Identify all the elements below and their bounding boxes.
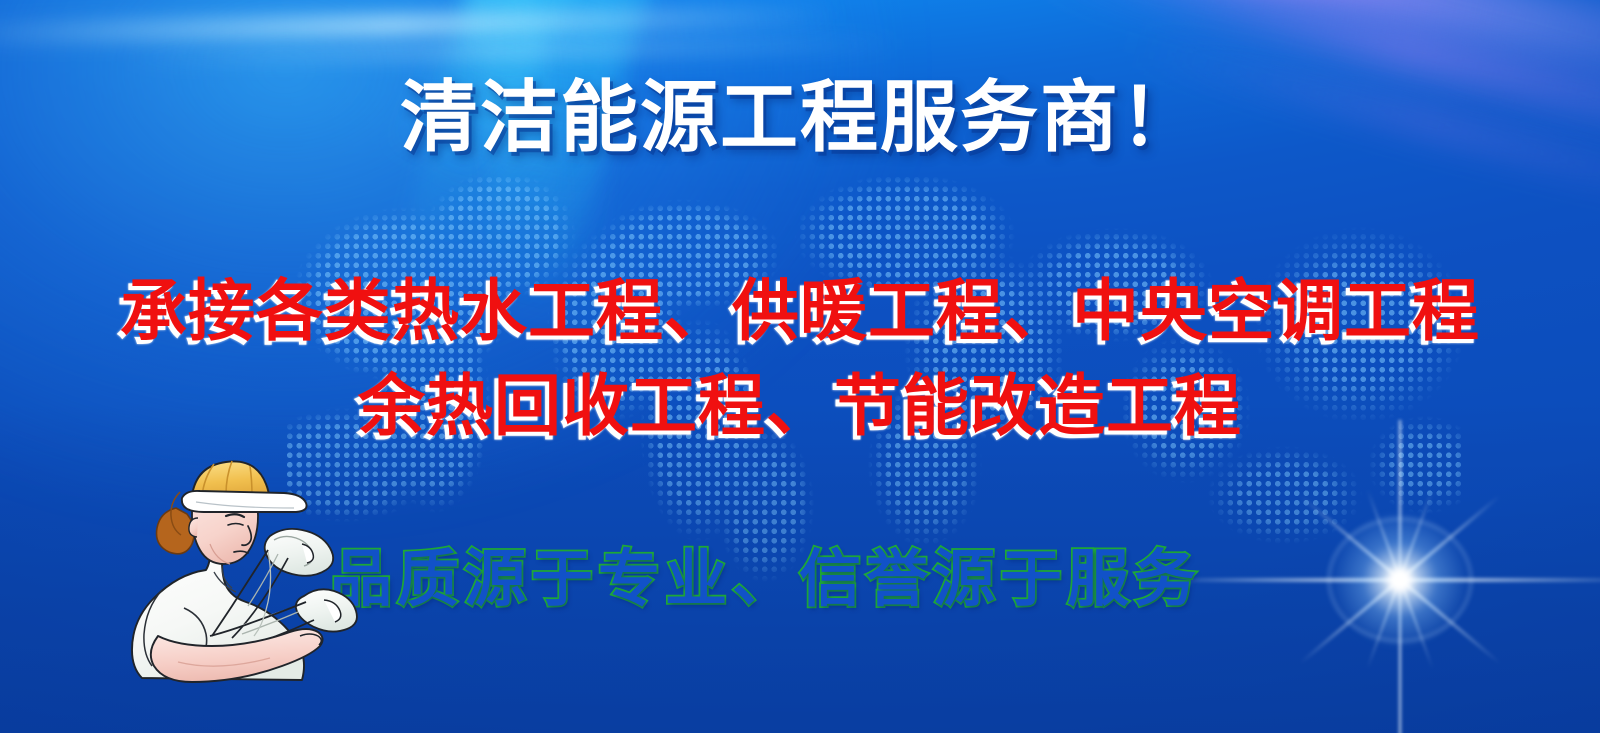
engineer-illustration [118, 440, 388, 685]
flare-core [1330, 510, 1470, 650]
banner-slogan: 品质源于专业、信誉源于服务 [330, 528, 1260, 618]
promo-banner: 清洁能源工程服务商！ 承接各类热水工程、供暖工程、中央空调工程 余热回收工程、节… [0, 0, 1600, 733]
service-line-1: 承接各类热水工程、供暖工程、中央空调工程 [0, 264, 1600, 359]
service-list: 承接各类热水工程、供暖工程、中央空调工程 余热回收工程、节能改造工程 [0, 264, 1600, 454]
hard-hat-icon [182, 461, 307, 512]
banner-headline: 清洁能源工程服务商！ [0, 78, 1600, 160]
